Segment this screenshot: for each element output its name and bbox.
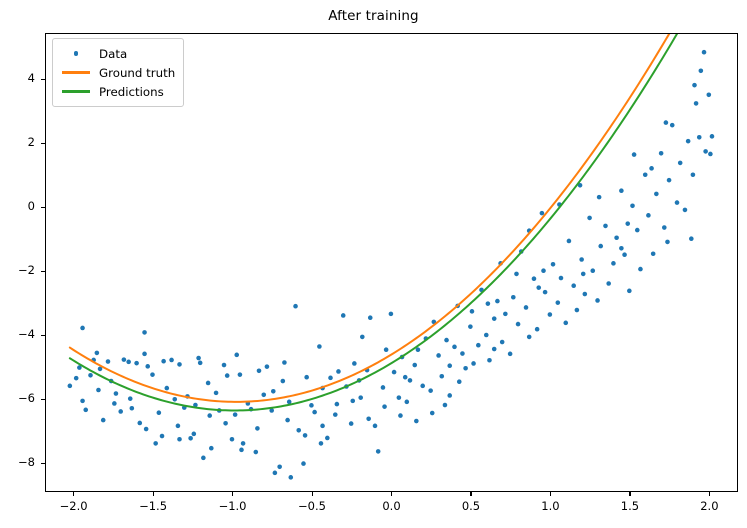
data-point <box>319 441 324 446</box>
data-point <box>541 268 546 273</box>
y-tick-mark <box>41 79 45 80</box>
legend-item-ground-truth: Ground truth <box>59 63 175 82</box>
data-point <box>619 188 624 193</box>
data-point <box>683 208 688 213</box>
y-tick-mark <box>41 143 45 144</box>
x-tick-label: 1.0 <box>530 499 570 513</box>
x-tick-label: 0.5 <box>451 499 491 513</box>
data-point <box>192 432 197 437</box>
data-point <box>646 213 651 218</box>
data-point <box>142 352 147 357</box>
data-point <box>443 403 448 408</box>
data-point <box>587 216 592 221</box>
data-point <box>397 395 402 400</box>
data-point <box>527 335 532 340</box>
data-point <box>664 120 669 125</box>
data-point <box>495 299 500 304</box>
y-tick-label: 4 <box>5 71 35 85</box>
data-point <box>188 436 193 441</box>
data-point <box>667 178 672 183</box>
data-point <box>651 251 656 256</box>
data-point <box>225 373 230 378</box>
data-point <box>492 316 497 321</box>
data-point <box>487 358 492 363</box>
data-point <box>209 446 214 451</box>
data-point <box>368 315 373 320</box>
x-tick-mark <box>391 492 392 496</box>
data-point <box>535 327 540 332</box>
data-point <box>444 338 449 343</box>
data-point <box>389 312 394 317</box>
data-point <box>80 399 85 404</box>
data-point <box>548 312 553 317</box>
y-tick-label: −8 <box>5 455 35 469</box>
data-point <box>333 412 338 417</box>
data-point <box>452 345 457 350</box>
x-tick-label: 1.5 <box>610 499 650 513</box>
data-point <box>654 192 659 197</box>
y-tick-mark <box>41 463 45 464</box>
data-point <box>128 396 133 401</box>
data-point <box>126 360 131 365</box>
data-point <box>198 361 203 366</box>
data-point <box>277 464 282 469</box>
data-point <box>575 308 580 313</box>
data-point <box>165 386 170 391</box>
data-point <box>312 410 317 415</box>
y-tick-label: 0 <box>5 199 35 213</box>
data-point <box>285 418 290 423</box>
y-tick-mark <box>41 399 45 400</box>
data-point <box>234 353 239 358</box>
y-tick-label: −6 <box>5 391 35 405</box>
data-point <box>567 239 572 244</box>
data-point <box>96 388 101 393</box>
x-tick-mark <box>550 492 551 496</box>
data-point <box>428 388 433 393</box>
x-tick-mark <box>232 492 233 496</box>
data-point <box>153 441 158 446</box>
data-point <box>405 400 410 405</box>
data-point <box>691 172 696 177</box>
data-point <box>241 441 246 446</box>
data-point <box>303 433 308 438</box>
data-point <box>304 375 309 380</box>
y-tick-label: −4 <box>5 327 35 341</box>
data-point <box>281 379 286 384</box>
data-point <box>622 252 627 257</box>
data-point <box>476 343 481 348</box>
data-point <box>373 424 378 429</box>
data-point <box>398 413 403 418</box>
matplotlib-figure: After training 420−2−4−6−8 −2.0−1.5−1.0−… <box>0 0 747 528</box>
data-point <box>603 224 608 229</box>
data-point <box>282 360 287 365</box>
data-point <box>630 203 635 208</box>
data-point <box>114 391 119 396</box>
data-point <box>358 395 363 400</box>
data-point <box>692 83 697 88</box>
data-point <box>68 384 73 389</box>
scatter-points-group <box>68 50 715 480</box>
data-point <box>309 403 314 408</box>
data-point <box>625 221 630 226</box>
data-point <box>177 437 182 442</box>
data-point <box>233 412 238 417</box>
data-point <box>74 376 79 381</box>
data-point <box>360 335 365 340</box>
chart-title: After training <box>0 8 747 24</box>
data-point <box>254 450 259 455</box>
data-point <box>88 373 93 378</box>
data-point <box>207 413 212 418</box>
x-tick-label: −1.0 <box>213 499 253 513</box>
data-point <box>508 352 513 357</box>
data-point <box>381 385 386 390</box>
data-point <box>214 391 219 396</box>
legend-item-predictions: Predictions <box>59 82 175 101</box>
data-point <box>382 404 387 409</box>
data-point <box>150 372 155 377</box>
data-point <box>500 340 505 345</box>
data-point <box>130 406 135 411</box>
data-point <box>606 281 611 286</box>
data-point <box>460 351 465 356</box>
data-point <box>702 50 707 55</box>
data-point <box>471 361 476 366</box>
data-point <box>665 240 670 245</box>
x-tick-label: −2.0 <box>54 499 94 513</box>
data-point <box>325 436 330 441</box>
data-point <box>662 225 667 230</box>
data-point <box>222 363 227 368</box>
data-point <box>678 161 683 166</box>
legend-label-data: Data <box>99 47 127 61</box>
data-point <box>157 410 162 415</box>
data-point <box>239 448 244 453</box>
data-point <box>484 333 489 338</box>
data-point <box>118 409 123 414</box>
x-tick-mark <box>73 492 74 496</box>
data-point <box>703 149 708 154</box>
data-point <box>392 370 397 375</box>
data-point <box>335 402 340 407</box>
data-point <box>559 276 564 281</box>
data-point <box>710 134 715 139</box>
data-point <box>273 471 278 476</box>
legend-label-predictions: Predictions <box>99 85 164 99</box>
data-point <box>503 312 508 317</box>
data-point <box>563 321 568 326</box>
data-point <box>597 195 602 200</box>
data-point <box>223 421 228 426</box>
data-point <box>486 301 491 306</box>
data-point <box>670 123 675 128</box>
data-point <box>169 358 174 363</box>
y-tick-mark <box>41 207 45 208</box>
data-point <box>414 419 419 424</box>
data-point <box>581 272 586 277</box>
data-point <box>257 369 262 374</box>
data-point <box>447 393 452 398</box>
data-point <box>543 290 548 295</box>
x-tick-mark <box>312 492 313 496</box>
data-point <box>598 244 603 249</box>
x-tick-label: 0.0 <box>372 499 412 513</box>
data-point <box>470 309 475 314</box>
data-point <box>101 418 106 423</box>
data-point <box>492 347 497 352</box>
data-point <box>349 421 354 426</box>
data-point <box>341 313 346 318</box>
data-point <box>301 461 306 466</box>
data-point <box>112 401 117 406</box>
data-point <box>524 305 529 310</box>
data-point <box>439 374 444 379</box>
data-point <box>532 276 537 281</box>
data-point <box>468 324 473 329</box>
data-point <box>556 300 561 305</box>
data-point <box>708 152 713 157</box>
data-point <box>142 330 147 335</box>
data-point <box>137 421 142 426</box>
data-point <box>384 347 389 352</box>
data-point <box>106 359 111 364</box>
data-point <box>649 166 654 171</box>
data-point <box>595 298 600 303</box>
data-point <box>430 411 435 416</box>
data-point <box>611 261 616 266</box>
data-point <box>699 68 704 73</box>
data-point <box>288 475 293 480</box>
data-point <box>271 389 276 394</box>
data-point <box>134 361 139 366</box>
legend-marker-predictions-icon <box>59 85 93 99</box>
data-point <box>635 228 640 233</box>
data-point <box>350 399 355 404</box>
data-point <box>352 361 357 366</box>
data-point <box>412 363 417 368</box>
data-point <box>627 289 632 294</box>
data-point <box>201 456 206 461</box>
data-point <box>540 211 545 216</box>
data-point <box>320 424 325 429</box>
data-point <box>145 364 150 369</box>
data-point <box>144 427 149 432</box>
data-point <box>619 246 624 251</box>
data-point <box>196 356 201 361</box>
data-point <box>643 172 648 177</box>
data-point <box>403 375 408 380</box>
data-point <box>420 384 425 389</box>
data-point <box>579 257 584 262</box>
data-point <box>697 135 702 140</box>
data-point <box>172 397 177 402</box>
data-point <box>95 351 100 356</box>
data-point <box>261 393 266 398</box>
data-point <box>230 437 235 442</box>
data-point <box>206 381 211 386</box>
data-point <box>83 408 88 413</box>
data-point <box>317 344 322 349</box>
data-point <box>80 326 85 331</box>
data-point <box>694 101 699 106</box>
x-tick-mark <box>709 492 710 496</box>
legend-item-data: Data <box>59 44 175 63</box>
x-tick-label: −1.5 <box>133 499 173 513</box>
data-point <box>638 267 643 272</box>
legend-marker-ground-truth-icon <box>59 66 93 80</box>
data-point <box>511 295 516 300</box>
data-point <box>265 364 270 369</box>
data-point <box>408 378 413 383</box>
chart-legend: Data Ground truth Predictions <box>52 38 184 107</box>
data-point <box>632 152 637 157</box>
x-tick-mark <box>153 492 154 496</box>
y-tick-label: −2 <box>5 263 35 277</box>
legend-label-ground-truth: Ground truth <box>99 66 175 80</box>
x-tick-label: −0.5 <box>292 499 332 513</box>
data-point <box>675 200 680 205</box>
data-point <box>436 353 441 358</box>
y-tick-label: 2 <box>5 135 35 149</box>
data-point <box>376 449 381 454</box>
data-point <box>463 366 468 371</box>
data-point <box>255 426 260 431</box>
data-point <box>122 357 127 362</box>
x-tick-label: 2.0 <box>689 499 729 513</box>
y-tick-mark <box>41 335 45 336</box>
x-tick-mark <box>629 492 630 496</box>
data-point <box>590 268 595 273</box>
data-point <box>686 139 691 144</box>
data-point <box>160 434 165 439</box>
data-point <box>447 363 452 368</box>
legend-marker-data-icon <box>59 47 93 61</box>
data-point <box>238 372 243 377</box>
data-point <box>614 235 619 240</box>
data-point <box>551 262 556 267</box>
x-tick-mark <box>470 492 471 496</box>
data-point <box>293 304 298 309</box>
data-point <box>457 379 462 384</box>
data-point <box>177 362 182 367</box>
data-point <box>336 369 341 374</box>
y-tick-mark <box>41 271 45 272</box>
data-point <box>328 376 333 381</box>
data-point <box>583 292 588 297</box>
data-point <box>659 151 664 156</box>
data-point <box>296 428 301 433</box>
data-point <box>366 416 371 421</box>
data-point <box>516 322 521 327</box>
data-point <box>689 236 694 241</box>
data-point <box>176 424 181 429</box>
data-point <box>707 92 712 97</box>
data-point <box>536 285 541 290</box>
data-point <box>571 283 576 288</box>
data-point <box>161 359 166 364</box>
data-point <box>514 272 519 277</box>
